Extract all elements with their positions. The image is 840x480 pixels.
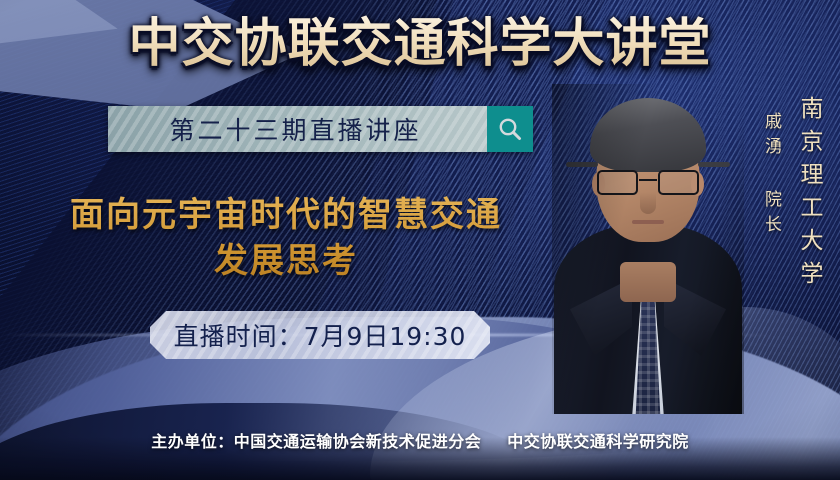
portrait-eyebrow-right [698, 162, 730, 167]
livestream-poster: 中交协联交通科学大讲堂 第二十三期直播讲座 面向元宇宙时代的智慧交通 发展思考 … [0, 0, 840, 480]
page-title: 中交协联交通科学大讲堂 [0, 14, 840, 74]
session-bar: 第二十三期直播讲座 [108, 106, 533, 152]
speaker-organization: 南京理工大学 [792, 96, 826, 294]
organizer-label: 主办单位： [151, 432, 234, 451]
lecture-title-line2: 发展思考 [26, 238, 546, 284]
lecture-title-line1: 面向元宇宙时代的智慧交通 [70, 195, 502, 235]
speaker-info: 戚湧 院长 南京理工大学 [759, 96, 826, 294]
glasses-bridge [639, 179, 657, 181]
organizer-name-2: 中交协联交通科学研究院 [507, 432, 689, 451]
speaker-name-and-title: 戚湧 院长 [759, 112, 784, 240]
session-bar-label: 第二十三期直播讲座 [108, 106, 487, 152]
broadcast-time-badge: 直播时间：7月9日19:30 [150, 311, 490, 359]
lecture-title: 面向元宇宙时代的智慧交通 发展思考 [26, 192, 546, 284]
portrait-neck [620, 262, 676, 302]
glasses-lens-left [597, 170, 638, 195]
speaker-portrait [552, 84, 744, 414]
search-icon[interactable] [487, 106, 533, 152]
portrait-hair [590, 98, 706, 172]
portrait-nose [640, 192, 656, 214]
footer-organizers: 主办单位：中国交通运输协会新技术促进分会中交协联交通科学研究院 [0, 428, 840, 452]
portrait-eyebrow-left [566, 162, 598, 167]
glasses-lens-right [658, 170, 699, 195]
portrait-mouth [632, 220, 664, 224]
organizer-name-1: 中国交通运输协会新技术促进分会 [234, 432, 482, 451]
